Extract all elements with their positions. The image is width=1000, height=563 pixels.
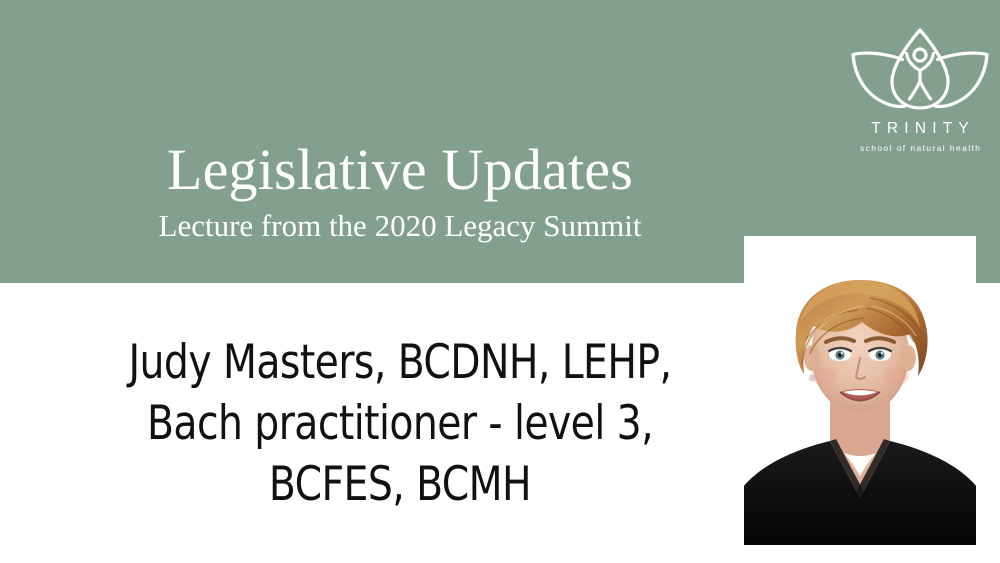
page-subtitle: Lecture from the 2020 Legacy Summit [0, 209, 800, 243]
logo-tagline: school of natural health [845, 144, 995, 152]
title-block: Legislative Updates Lecture from the 202… [0, 140, 800, 243]
trinity-lotus-figure-icon [845, 26, 995, 114]
trinity-logo: TRINITY school of natural health [845, 26, 995, 161]
presenter-block: Judy Masters, BCDNH, LEHP, Bach practiti… [0, 332, 800, 515]
presenter-line-1: Judy Masters, BCDNH, LEHP, [28, 332, 772, 393]
logo-wordmark: TRINITY [845, 121, 995, 137]
page-title: Legislative Updates [0, 140, 800, 199]
presenter-headshot [744, 236, 976, 545]
presenter-credentials: Judy Masters, BCDNH, LEHP, Bach practiti… [28, 332, 772, 515]
presentation-slide: Legislative Updates Lecture from the 202… [0, 0, 1000, 563]
presenter-line-2: Bach practitioner - level 3, [28, 393, 772, 454]
presenter-line-3: BCFES, BCMH [28, 454, 772, 515]
